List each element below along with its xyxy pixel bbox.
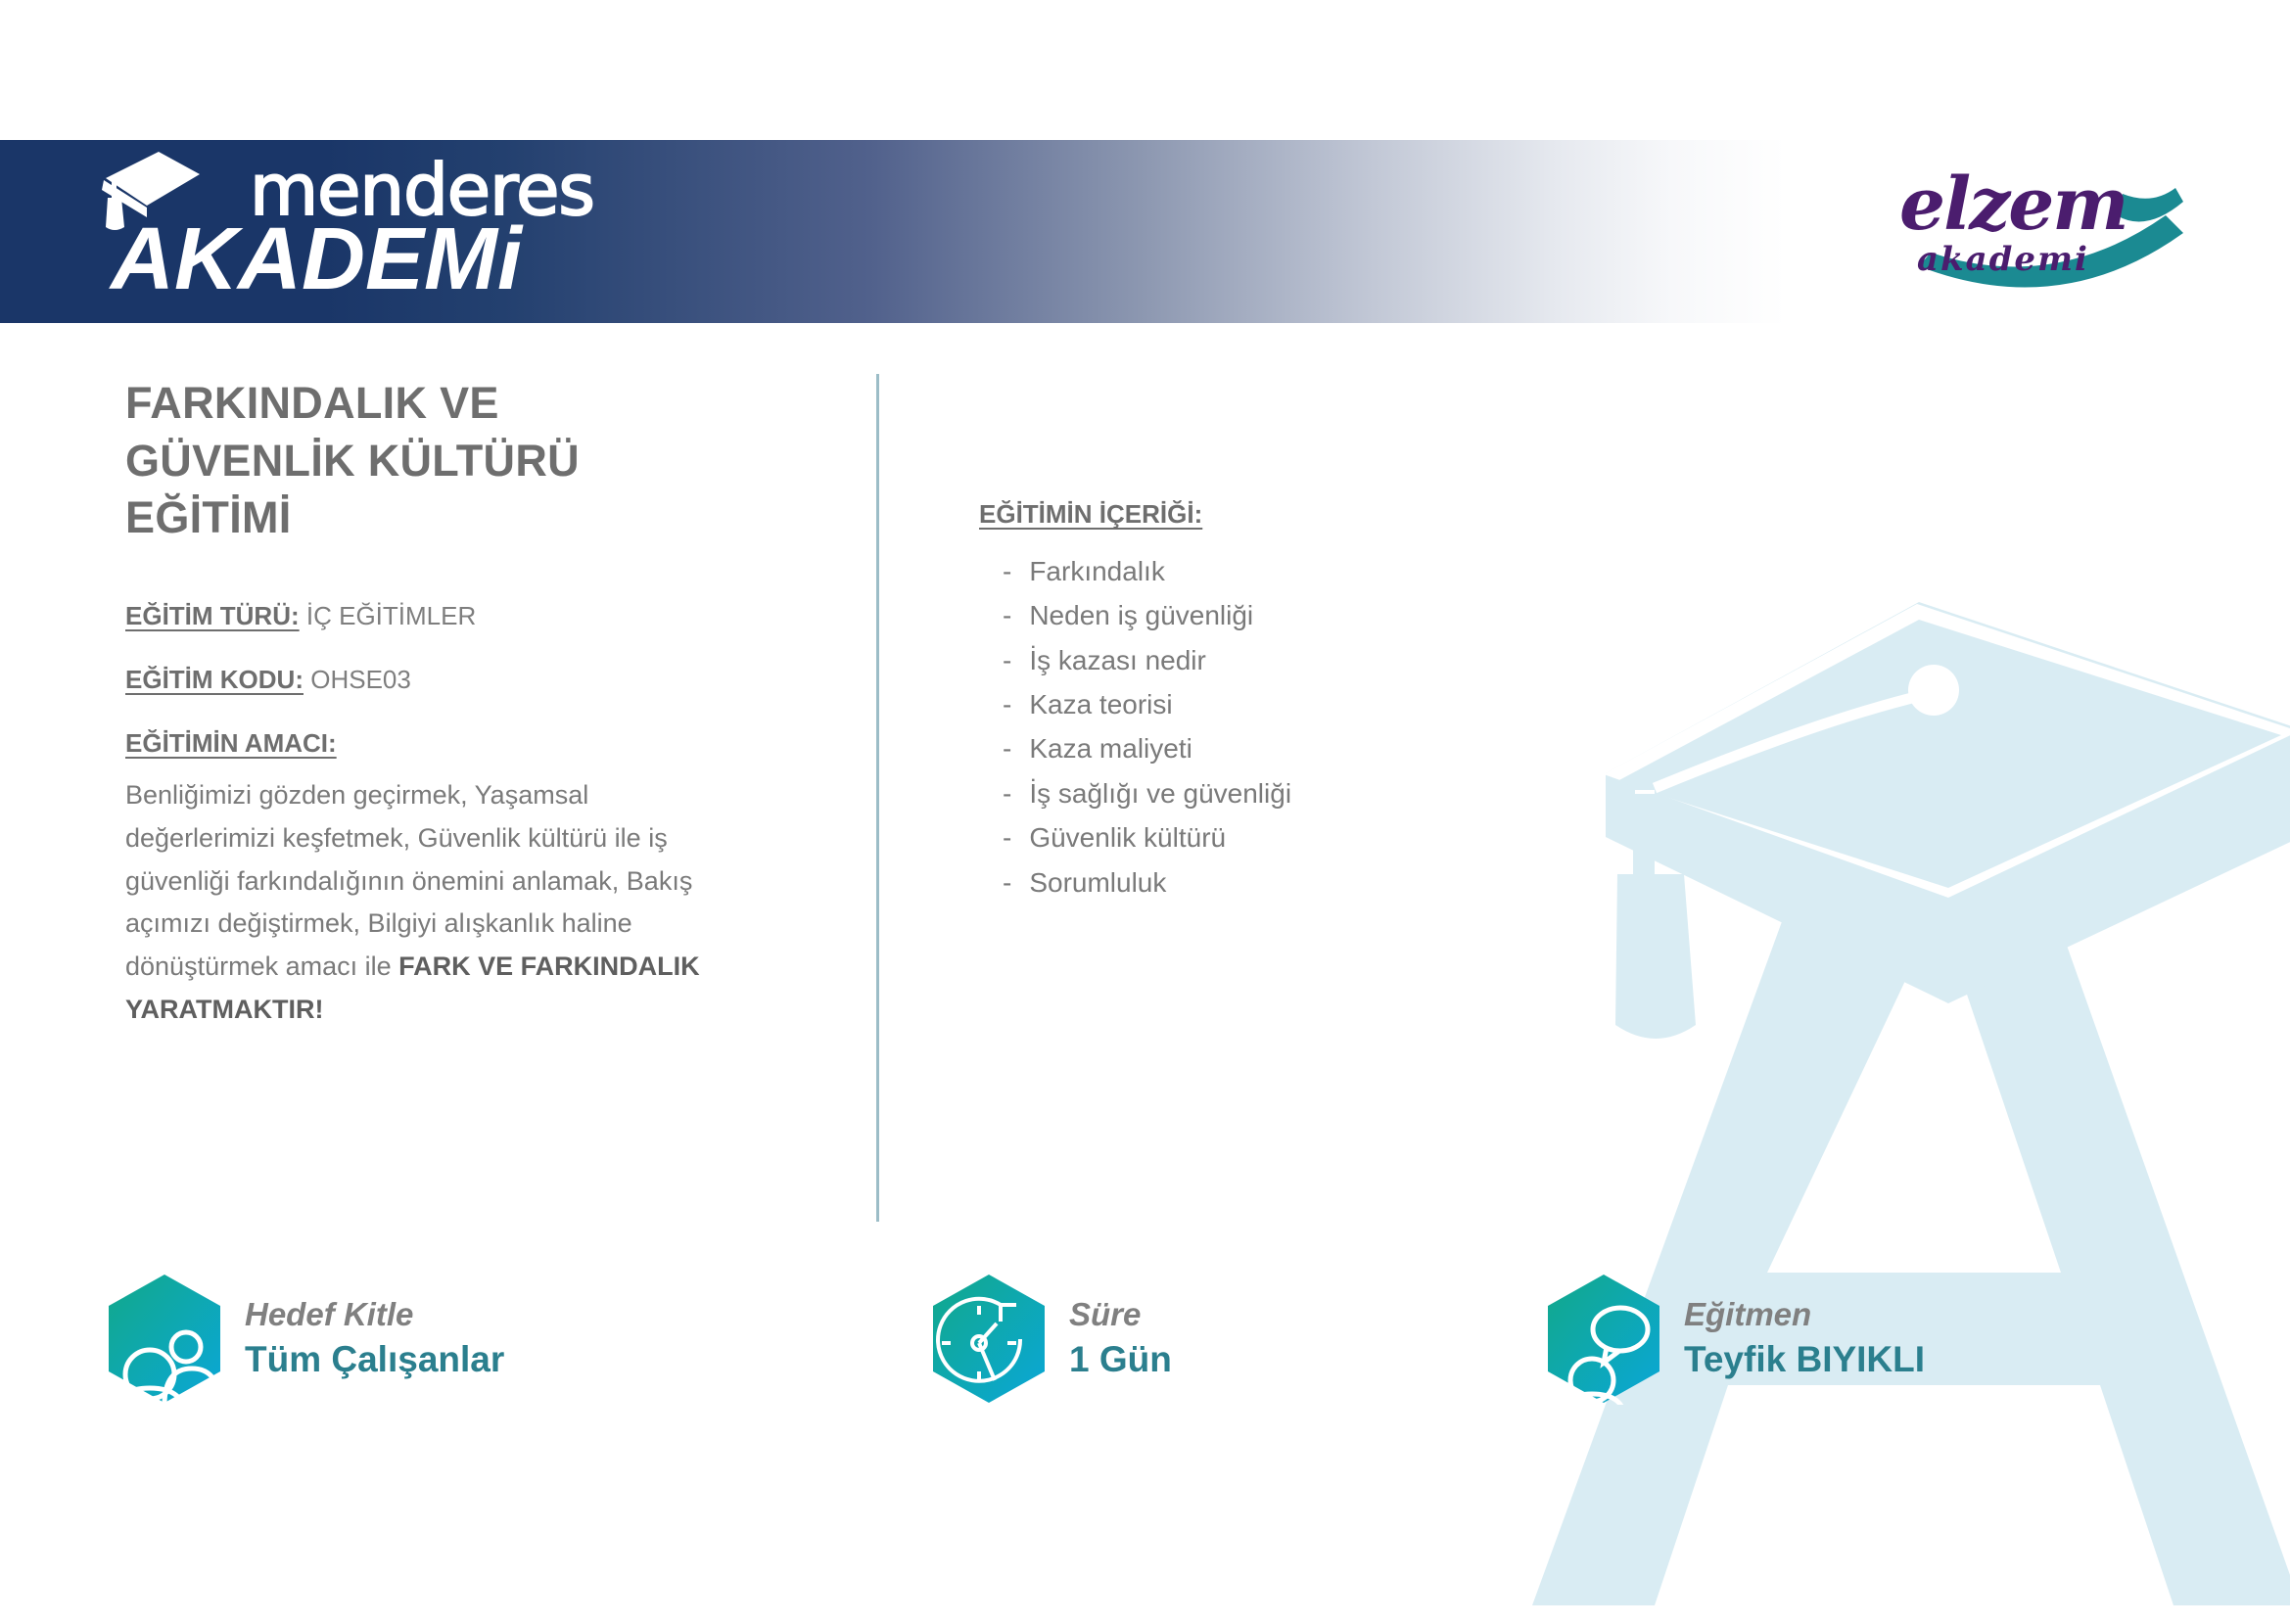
elzem-wordmark: elzem — [1899, 168, 2127, 241]
badge-text: Hedef Kitle Tüm Çalışanlar — [245, 1296, 504, 1380]
elzem-akademi-logo: elzem akademi — [1890, 176, 2213, 303]
content-list-item-label: İş sağlığı ve güvenliği — [1029, 771, 1291, 815]
content-list-item-label: Neden iş güvenliği — [1029, 593, 1253, 637]
list-bullet: - — [1003, 726, 1011, 770]
akademi-wordmark: AKADEMi — [111, 215, 522, 303]
content-list-item-label: Kaza teorisi — [1029, 682, 1172, 726]
list-bullet: - — [1003, 815, 1011, 859]
badge-trainer: Eğitmen Teyfik BIYIKLI — [1545, 1273, 1925, 1405]
content-list-item: -Kaza maliyeti — [1003, 726, 1664, 770]
people-icon — [106, 1273, 223, 1405]
list-bullet: - — [1003, 593, 1011, 637]
list-bullet: - — [1003, 638, 1011, 682]
content-list-item-label: Farkındalık — [1029, 549, 1165, 593]
training-code-label: EĞİTİM KODU: — [125, 665, 304, 694]
content-list-item: -Güvenlik kültürü — [1003, 815, 1664, 859]
badge-title: Eğitmen — [1684, 1296, 1925, 1333]
purpose-text: Benliğimizi gözden geçirmek, Yaşamsal de… — [125, 774, 732, 1031]
content-list-item: -İş kazası nedir — [1003, 638, 1664, 682]
badge-value: 1 Gün — [1069, 1339, 1172, 1381]
speech-bubble-icon — [1545, 1273, 1662, 1405]
content-list-item-label: İş kazası nedir — [1029, 638, 1206, 682]
badge-duration: Süre 1 Gün — [930, 1273, 1172, 1405]
course-content-column: EĞİTİMİN İÇERİĞİ: -Farkındalık-Neden iş … — [979, 499, 1664, 905]
badge-target-audience: Hedef Kitle Tüm Çalışanlar — [106, 1273, 504, 1405]
badge-value: Tüm Çalışanlar — [245, 1339, 504, 1381]
content-list: -Farkındalık-Neden iş güvenliği-İş kazas… — [979, 549, 1664, 905]
training-type-value: İÇ EĞİTİMLER — [306, 601, 476, 630]
content-list-item-label: Kaza maliyeti — [1029, 726, 1192, 770]
training-code-value: OHSE03 — [310, 665, 411, 694]
course-info-column: FARKINDALIK VE GÜVENLİK KÜLTÜRÜ EĞİTİMİ … — [125, 375, 771, 1032]
clock-icon — [930, 1273, 1048, 1405]
badge-text: Süre 1 Gün — [1069, 1296, 1172, 1380]
elzem-akademi-wordmark: akademi — [1917, 243, 2089, 276]
content-list-item: -Neden iş güvenliği — [1003, 593, 1664, 637]
content-list-item: -İş sağlığı ve güvenliği — [1003, 771, 1664, 815]
meta-row-training-code: EĞİTİM KODU: OHSE03 — [125, 664, 771, 697]
column-divider — [876, 374, 879, 1222]
badge-value: Teyfik BIYIKLI — [1684, 1339, 1925, 1381]
list-bullet: - — [1003, 549, 1011, 593]
content-list-item-label: Güvenlik kültürü — [1029, 815, 1226, 859]
list-bullet: - — [1003, 771, 1011, 815]
content-list-item-label: Sorumluluk — [1029, 860, 1166, 905]
content-list-item: -Kaza teorisi — [1003, 682, 1664, 726]
meta-row-training-type: EĞİTİM TÜRÜ: İÇ EĞİTİMLER — [125, 600, 771, 633]
list-bullet: - — [1003, 682, 1011, 726]
content-list-item: -Sorumluluk — [1003, 860, 1664, 905]
purpose-label: EĞİTİMİN AMACI: — [125, 728, 337, 759]
page-title: FARKINDALIK VE GÜVENLİK KÜLTÜRÜ EĞİTİMİ — [125, 375, 771, 547]
badge-title: Süre — [1069, 1296, 1172, 1333]
badge-text: Eğitmen Teyfik BIYIKLI — [1684, 1296, 1925, 1380]
content-label: EĞİTİMİN İÇERİĞİ: — [979, 499, 1202, 530]
content-list-item: -Farkındalık — [1003, 549, 1664, 593]
badge-title: Hedef Kitle — [245, 1296, 504, 1333]
list-bullet: - — [1003, 860, 1011, 905]
training-type-label: EĞİTİM TÜRÜ: — [125, 601, 300, 630]
purpose-section: EĞİTİMİN AMACI: Benliğimizi gözden geçir… — [125, 728, 771, 1031]
menderes-akademi-logo: menderes AKADEMi — [93, 149, 602, 315]
